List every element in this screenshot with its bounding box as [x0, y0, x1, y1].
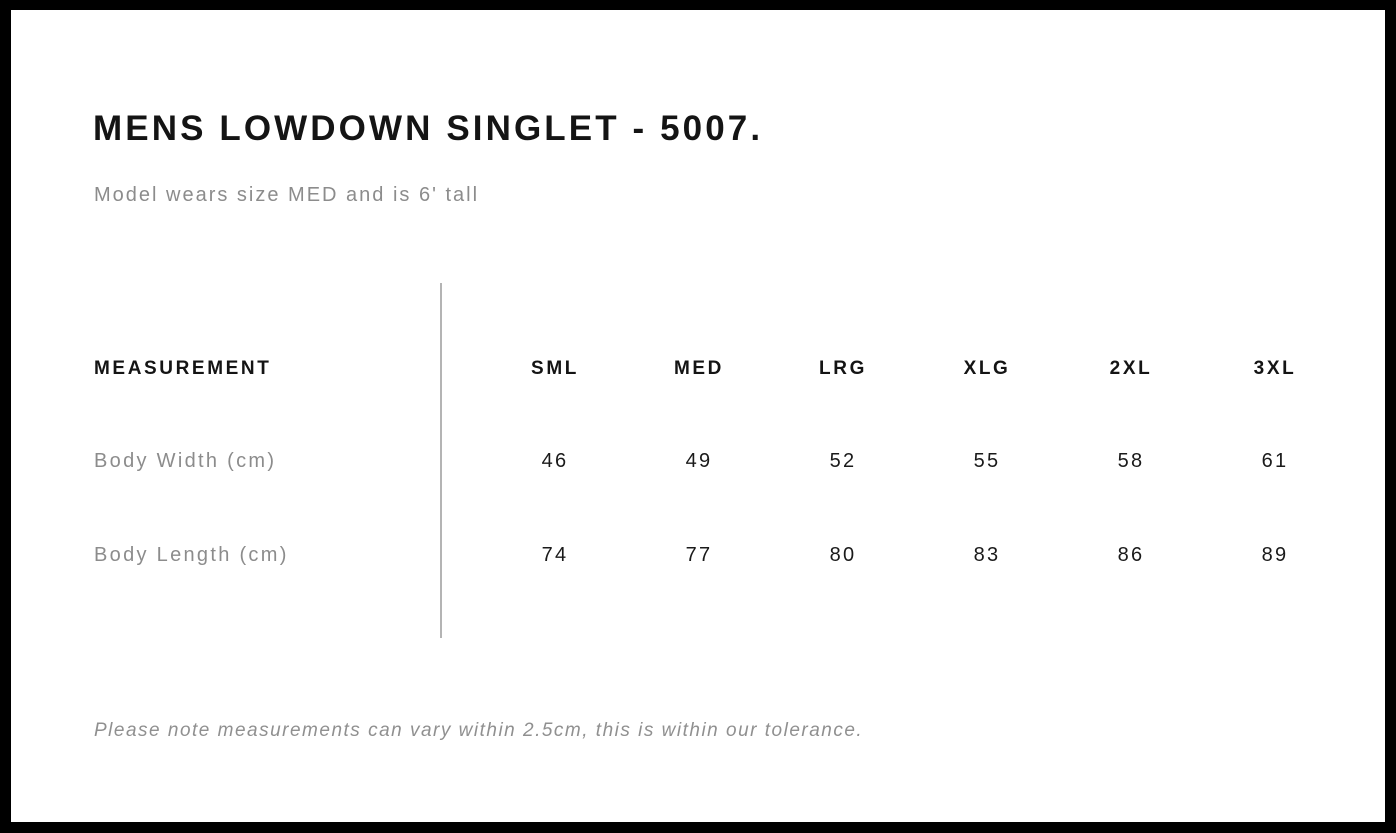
cell-body-length-sml: 74: [495, 540, 615, 570]
cell-body-width-3xl: 61: [1215, 446, 1335, 476]
column-header-2xl: 2XL: [1071, 354, 1191, 384]
cell-body-width-lrg: 52: [783, 446, 903, 476]
row-label-body-width: Body Width (cm): [94, 446, 276, 476]
tolerance-note: Please note measurements can vary within…: [94, 721, 863, 740]
column-header-sml: SML: [495, 354, 615, 384]
row-label-body-length: Body Length (cm): [94, 540, 289, 570]
cell-body-width-sml: 46: [495, 446, 615, 476]
column-header-lrg: LRG: [783, 354, 903, 384]
cell-body-width-xlg: 55: [927, 446, 1047, 476]
cell-body-length-2xl: 86: [1071, 540, 1191, 570]
cell-body-length-lrg: 80: [783, 540, 903, 570]
table-header-row: MEASUREMENT SML MED LRG XLG 2XL 3XL: [11, 354, 1385, 384]
size-chart-card: MENS LOWDOWN SINGLET - 5007. Model wears…: [11, 10, 1385, 822]
cell-body-width-2xl: 58: [1071, 446, 1191, 476]
cell-body-width-med: 49: [639, 446, 759, 476]
cell-body-length-xlg: 83: [927, 540, 1047, 570]
table-row: Body Length (cm) 74 77 80 83 86 89: [11, 540, 1385, 570]
column-header-med: MED: [639, 354, 759, 384]
column-header-xlg: XLG: [927, 354, 1047, 384]
size-table: MEASUREMENT SML MED LRG XLG 2XL 3XL Body…: [11, 10, 1385, 822]
table-row: Body Width (cm) 46 49 52 55 58 61: [11, 446, 1385, 476]
column-header-3xl: 3XL: [1215, 354, 1335, 384]
column-header-measurement: MEASUREMENT: [94, 354, 271, 384]
cell-body-length-med: 77: [639, 540, 759, 570]
cell-body-length-3xl: 89: [1215, 540, 1335, 570]
